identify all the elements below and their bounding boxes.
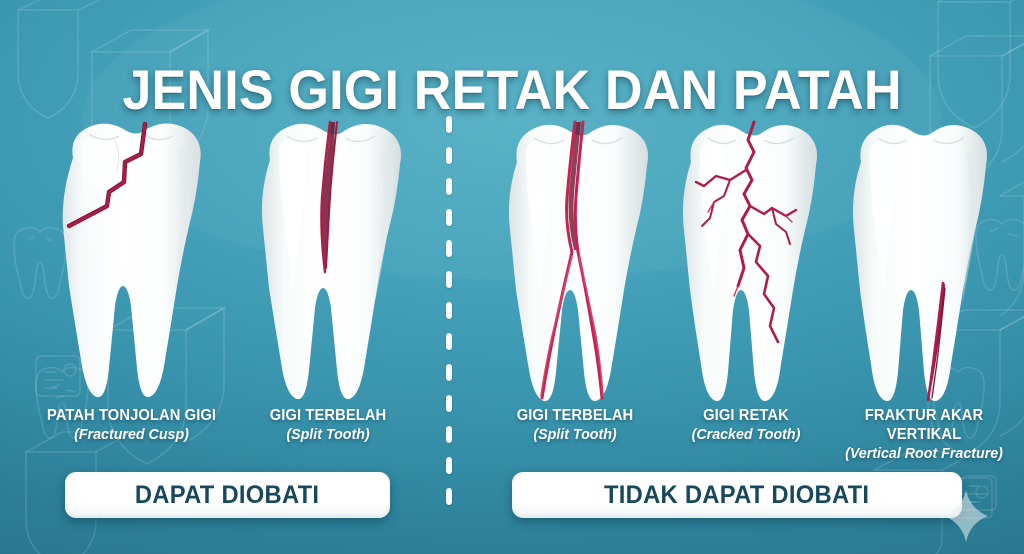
divider-dash — [446, 457, 452, 474]
pill-dapat-diobati[interactable]: DAPAT DIOBATI — [65, 472, 390, 518]
label-split-tooth-untreatable: GIGI TERBELAH (Split Tooth) — [487, 406, 663, 444]
label-subtitle: (Vertical Root Fracture) — [831, 444, 1017, 463]
tooth-illustration-vertical-root-fracture — [838, 110, 1003, 410]
label-vertical-root-fracture: FRAKTUR AKAR VERTIKAL (Vertical Root Fra… — [826, 406, 1022, 463]
pill-tidak-dapat-diobati[interactable]: TIDAK DAPAT DIOBATI — [512, 472, 962, 518]
teeth-illustration-row — [0, 110, 1024, 410]
label-title: GIGI RETAK — [667, 406, 825, 425]
label-row: PATAH TONJOLAN GIGI (Fractured Cusp) GIG… — [0, 406, 1024, 458]
pill-label: TIDAK DAPAT DIOBATI — [604, 482, 869, 508]
label-title: GIGI TERBELAH — [491, 406, 658, 425]
sparkle-icon — [944, 490, 988, 542]
label-title: FRAKTUR AKAR VERTIKAL — [831, 406, 1017, 444]
divider-dash — [446, 488, 452, 505]
infographic-poster: JENIS GIGI RETAK DAN PATAH — [0, 0, 1024, 554]
label-subtitle: (Split Tooth) — [491, 425, 658, 444]
label-title: PATAH TONJOLAN GIGI — [29, 406, 233, 425]
label-title: GIGI TERBELAH — [244, 406, 411, 425]
tooth-illustration-split-tooth-untreatable — [492, 110, 667, 410]
label-fractured-cusp: PATAH TONJOLAN GIGI (Fractured Cusp) — [24, 406, 239, 444]
tooth-illustration-fractured-cusp — [45, 110, 220, 410]
label-split-tooth-treatable: GIGI TERBELAH (Split Tooth) — [240, 406, 416, 444]
label-subtitle: (Fractured Cusp) — [29, 425, 233, 444]
label-cracked-tooth: GIGI RETAK (Cracked Tooth) — [663, 406, 829, 444]
label-subtitle: (Cracked Tooth) — [667, 425, 825, 444]
tooth-illustration-split-tooth-treatable — [245, 110, 420, 410]
label-subtitle: (Split Tooth) — [244, 425, 411, 444]
tooth-illustration-cracked-tooth — [668, 110, 833, 410]
pill-label: DAPAT DIOBATI — [135, 482, 319, 508]
